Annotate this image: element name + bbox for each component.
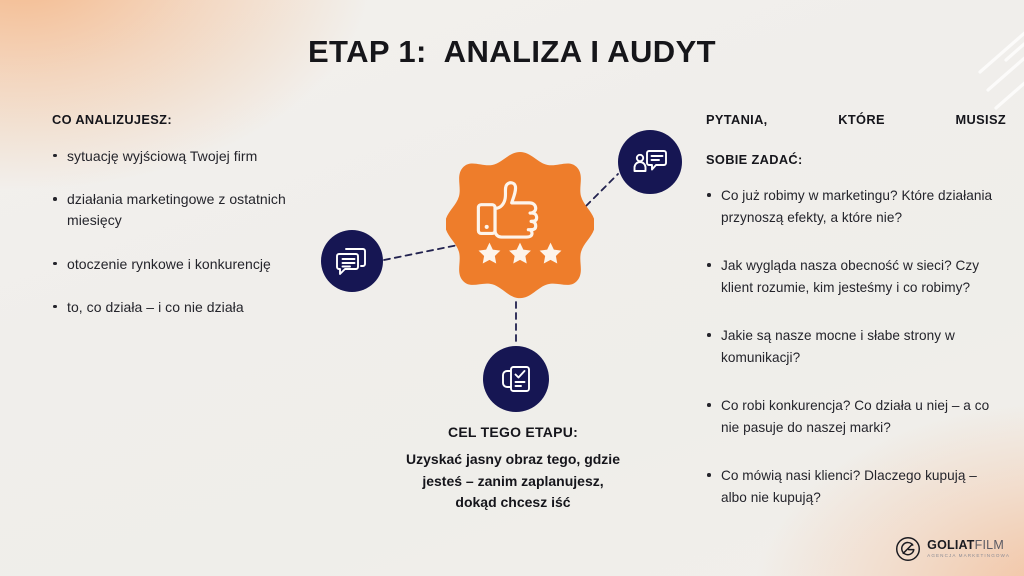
logo-text-group: GOLIATFILM AGENCJA MARKETINGOWA [927, 539, 1010, 558]
orange-arc-decoration [0, 472, 182, 576]
goal-body-line1: Uzyskać jasny obraz tego, gdzie [355, 449, 671, 471]
list-item-label: działania marketingowe z ostatnich miesi… [67, 191, 286, 228]
person-speech-bubble-icon [632, 144, 668, 180]
right-column-heading-line1: PYTANIA, KTÓRE MUSISZ [706, 110, 1006, 150]
node-clipboard-check[interactable] [483, 346, 549, 412]
left-bullet-list: sytuację wyjściową Twojej firm działania… [52, 146, 320, 318]
list-item: otoczenie rynkowe i konkurencję [52, 254, 320, 275]
goal-body-line2: jesteś – zanim zaplanujesz, [355, 471, 671, 493]
list-item-label: Co robi konkurencja? Co działa u niej – … [721, 398, 989, 434]
list-item-label: to, co działa – i co nie działa [67, 299, 244, 315]
logo-wordmark: GOLIATFILM [927, 539, 1010, 552]
list-item-label: Jak wygląda nasza obecność w sieci? Czy … [721, 258, 979, 294]
clipboard-check-icon [498, 361, 534, 397]
list-item: Co robi konkurencja? Co działa u niej – … [706, 395, 1006, 438]
goal-body: Uzyskać jasny obraz tego, gdzie jesteś –… [355, 449, 671, 514]
brand-logo: GOLIATFILM AGENCJA MARKETINGOWA [895, 536, 1010, 562]
list-item: sytuację wyjściową Twojej firm [52, 146, 320, 167]
list-item-label: sytuację wyjściową Twojej firm [67, 148, 257, 164]
chat-bubbles-icon [335, 244, 369, 278]
list-item: działania marketingowe z ostatnich miesi… [52, 189, 320, 232]
bullet-dot-icon [53, 262, 57, 266]
list-item-label: Co już robimy w marketingu? Które działa… [721, 188, 992, 224]
bullet-dot-icon [53, 197, 57, 201]
logo-tagline: AGENCJA MARKETINGOWA [927, 554, 1010, 559]
list-item: to, co działa – i co nie działa [52, 297, 320, 318]
node-person-feedback[interactable] [618, 130, 682, 194]
logo-brand-thin: FILM [975, 538, 1004, 552]
center-badge [446, 150, 594, 302]
left-column: CO ANALIZUJESZ: sytuację wyjściową Twoje… [52, 110, 320, 318]
page-title: ETAP 1: ANALIZA I AUDYT [0, 34, 1024, 70]
right-bullet-list: Co już robimy w marketingu? Które działa… [706, 185, 1006, 508]
list-item: Jakie są nasze mocne i słabe strony w ko… [706, 325, 1006, 368]
logo-brand-bold: GOLIAT [927, 538, 975, 552]
slide-root: ETAP 1: ANALIZA I AUDYT CO ANALIZUJESZ: … [0, 0, 1024, 576]
bullet-dot-icon [707, 473, 711, 477]
bullet-dot-icon [53, 305, 57, 309]
list-item-label: Co mówią nasi klienci? Dlaczego kupują –… [721, 468, 977, 504]
right-column: PYTANIA, KTÓRE MUSISZ SOBIE ZADAĆ: Co ju… [706, 110, 1006, 535]
list-item: Jak wygląda nasza obecność w sieci? Czy … [706, 255, 1006, 298]
goal-body-line3: dokąd chcesz iść [355, 492, 671, 514]
list-item: Co już robimy w marketingu? Które działa… [706, 185, 1006, 228]
right-column-heading-line2: SOBIE ZADAĆ: [706, 150, 1006, 170]
goal-block: CEL TEGO ETAPU: Uzyskać jasny obraz tego… [355, 424, 671, 514]
center-diagram [300, 110, 710, 430]
list-item-label: otoczenie rynkowe i konkurencję [67, 256, 271, 272]
left-column-heading: CO ANALIZUJESZ: [52, 110, 320, 130]
list-item-label: Jakie są nasze mocne i słabe strony w ko… [721, 328, 955, 364]
list-item: Co mówią nasi klienci? Dlaczego kupują –… [706, 465, 1006, 508]
goliat-logo-mark-icon [895, 536, 921, 562]
right-column-heading: PYTANIA, KTÓRE MUSISZ SOBIE ZADAĆ: [706, 110, 1006, 169]
node-chat-bubbles[interactable] [321, 230, 383, 292]
bullet-dot-icon [53, 154, 57, 158]
goal-title: CEL TEGO ETAPU: [355, 424, 671, 440]
